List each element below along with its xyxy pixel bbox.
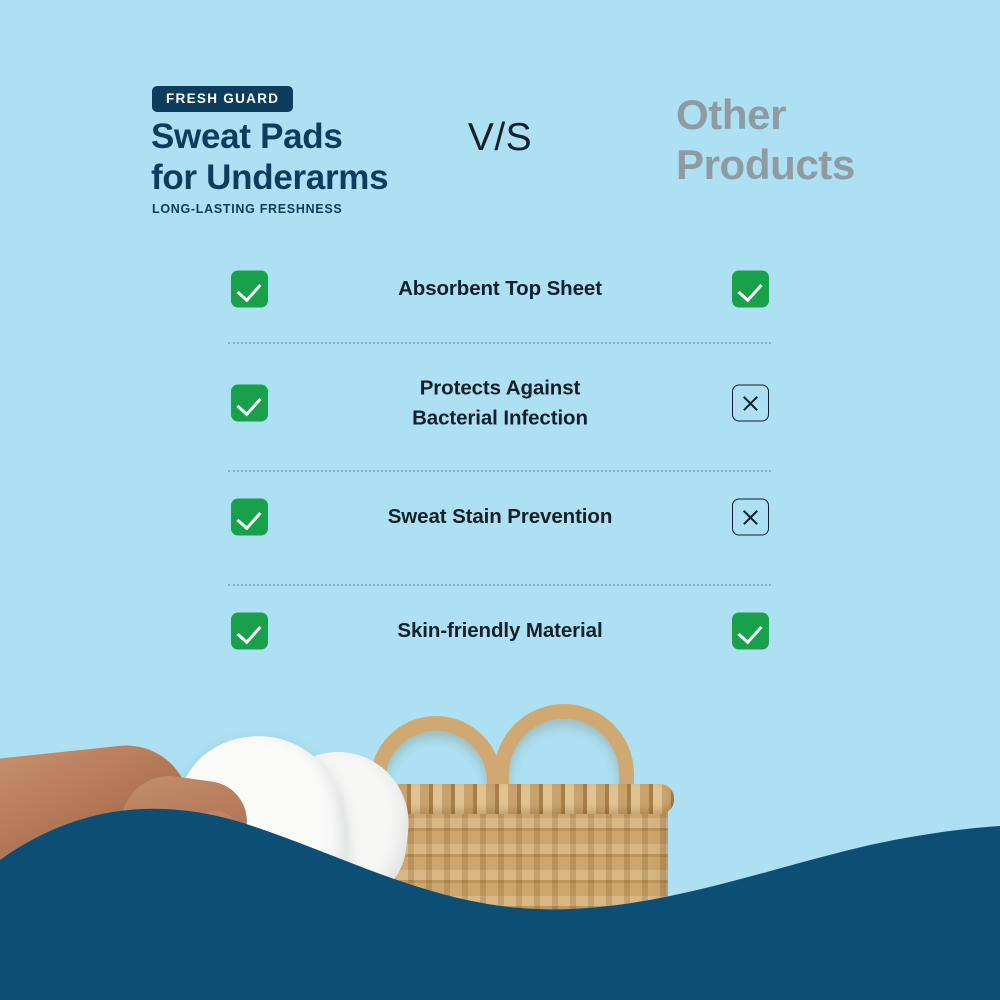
table-row: Absorbent Top Sheet xyxy=(0,258,1000,320)
feature-label-4: Skin-friendly Material xyxy=(280,616,720,646)
check-icon xyxy=(732,271,769,308)
theirs-status-4 xyxy=(732,613,769,650)
product-tagline: LONG-LASTING FRESHNESS xyxy=(152,202,342,216)
cross-icon xyxy=(732,385,769,422)
product-title-line-2: for Underarms xyxy=(151,157,388,198)
feature-label-2: Protects Against Bacterial Infection xyxy=(280,373,720,432)
check-icon xyxy=(231,385,268,422)
feature-label-2-line-2: Bacterial Infection xyxy=(280,403,720,433)
feature-label-3: Sweat Stain Prevention xyxy=(280,502,720,532)
check-icon xyxy=(231,613,268,650)
header: FRESH GUARD Sweat Pads for Underarms LON… xyxy=(0,84,1000,224)
feature-label-1: Absorbent Top Sheet xyxy=(280,274,720,304)
row-divider xyxy=(228,342,771,344)
other-products-title: Other Products xyxy=(676,90,855,191)
check-icon xyxy=(231,271,268,308)
comparison-table: Absorbent Top Sheet Protects Against Bac… xyxy=(0,258,1000,662)
table-row: Protects Against Bacterial Infection xyxy=(0,372,1000,434)
ours-status-1 xyxy=(231,271,268,308)
check-icon xyxy=(231,499,268,536)
theirs-status-1 xyxy=(732,271,769,308)
feature-label-2-line-1: Protects Against xyxy=(280,373,720,403)
other-products-line-2: Products xyxy=(676,140,855,190)
ours-status-4 xyxy=(231,613,268,650)
cross-icon xyxy=(732,499,769,536)
row-divider xyxy=(228,584,771,586)
ours-status-2 xyxy=(231,385,268,422)
other-products-line-1: Other xyxy=(676,90,855,140)
product-comparison-graphic: FRESH GUARD Sweat Pads for Underarms LON… xyxy=(0,0,1000,1000)
theirs-status-3 xyxy=(732,499,769,536)
brand-badge: FRESH GUARD xyxy=(152,86,293,112)
row-divider xyxy=(228,470,771,472)
theirs-status-2 xyxy=(732,385,769,422)
ours-status-3 xyxy=(231,499,268,536)
table-row: Sweat Stain Prevention xyxy=(0,486,1000,548)
check-icon xyxy=(732,613,769,650)
bottom-wave xyxy=(0,740,1000,1000)
